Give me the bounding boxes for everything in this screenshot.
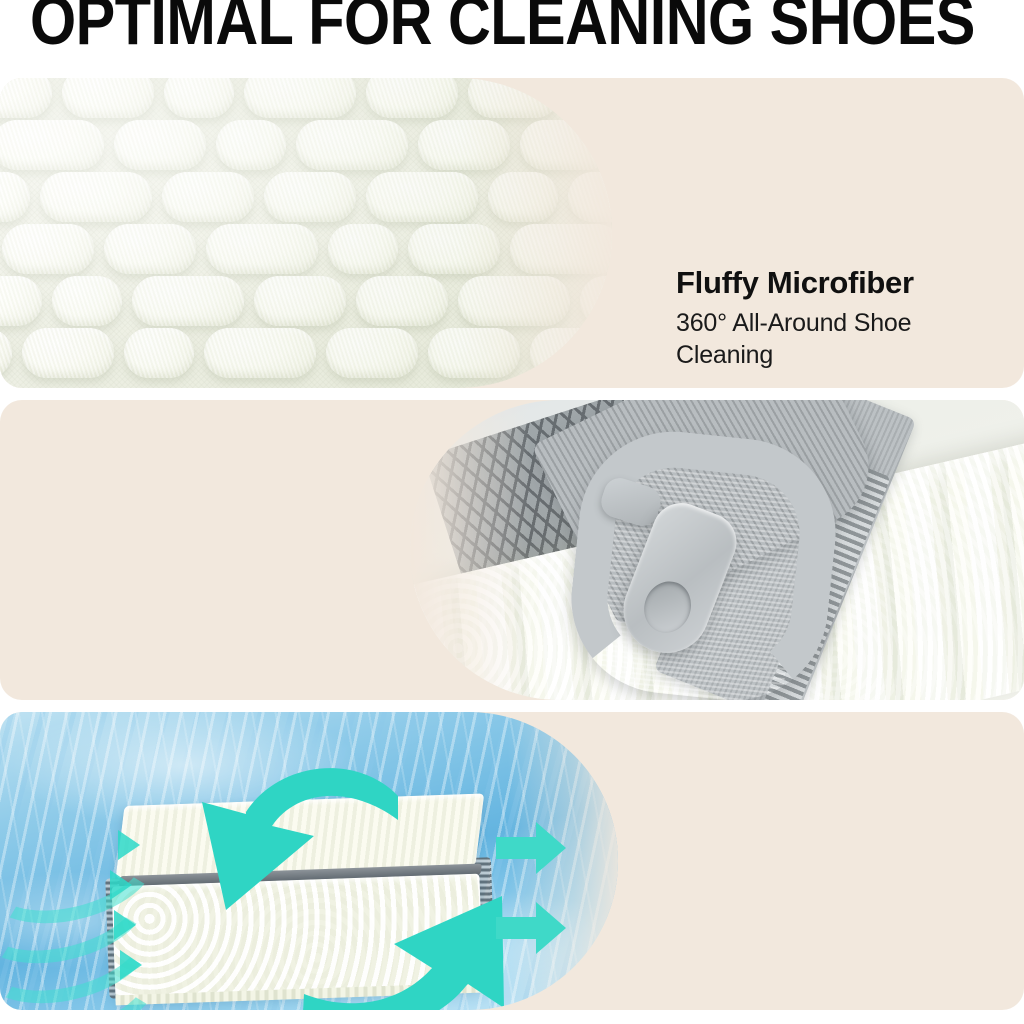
- page-title: OPTIMAL FOR CLEANING SHOES: [30, 0, 1000, 52]
- feature-panel-fluffy-microfiber: Fluffy Microfiber 360° All-Around Shoe C…: [0, 78, 1024, 388]
- water-flow-arrow-tip-2: [110, 870, 132, 900]
- water-flow-arrow-tip-4: [120, 950, 142, 980]
- zipper-photo: [410, 400, 1024, 700]
- inflow-arrow-right-bottom: [496, 900, 566, 956]
- feature-title-fluffy-microfiber: Fluffy Microfiber: [676, 266, 1006, 300]
- water-flow-arrow-tip-1: [118, 830, 140, 860]
- microfiber-photo: [0, 78, 612, 388]
- feature-panel-6d-breathable-mesh: 6D Breathable Mesh Enhances water circu-…: [0, 712, 1024, 1010]
- feature-panel-durable-ykk-zipper: Durable YKK Zipper Zipper Protection Des…: [0, 400, 1024, 700]
- circulation-arrow-up: [290, 860, 530, 1010]
- inflow-arrow-right-top: [496, 820, 566, 876]
- feature-text-fluffy-microfiber: Fluffy Microfiber 360° All-Around Shoe C…: [676, 266, 1006, 371]
- water-circulation-photo: [0, 712, 618, 1010]
- chenille-texture: [0, 78, 612, 388]
- page-title-text: OPTIMAL FOR CLEANING SHOES: [30, 0, 975, 55]
- feature-description-fluffy-microfiber: 360° All-Around Shoe Cleaning: [676, 308, 1006, 371]
- water-flow-arrow-tip-3: [114, 910, 136, 940]
